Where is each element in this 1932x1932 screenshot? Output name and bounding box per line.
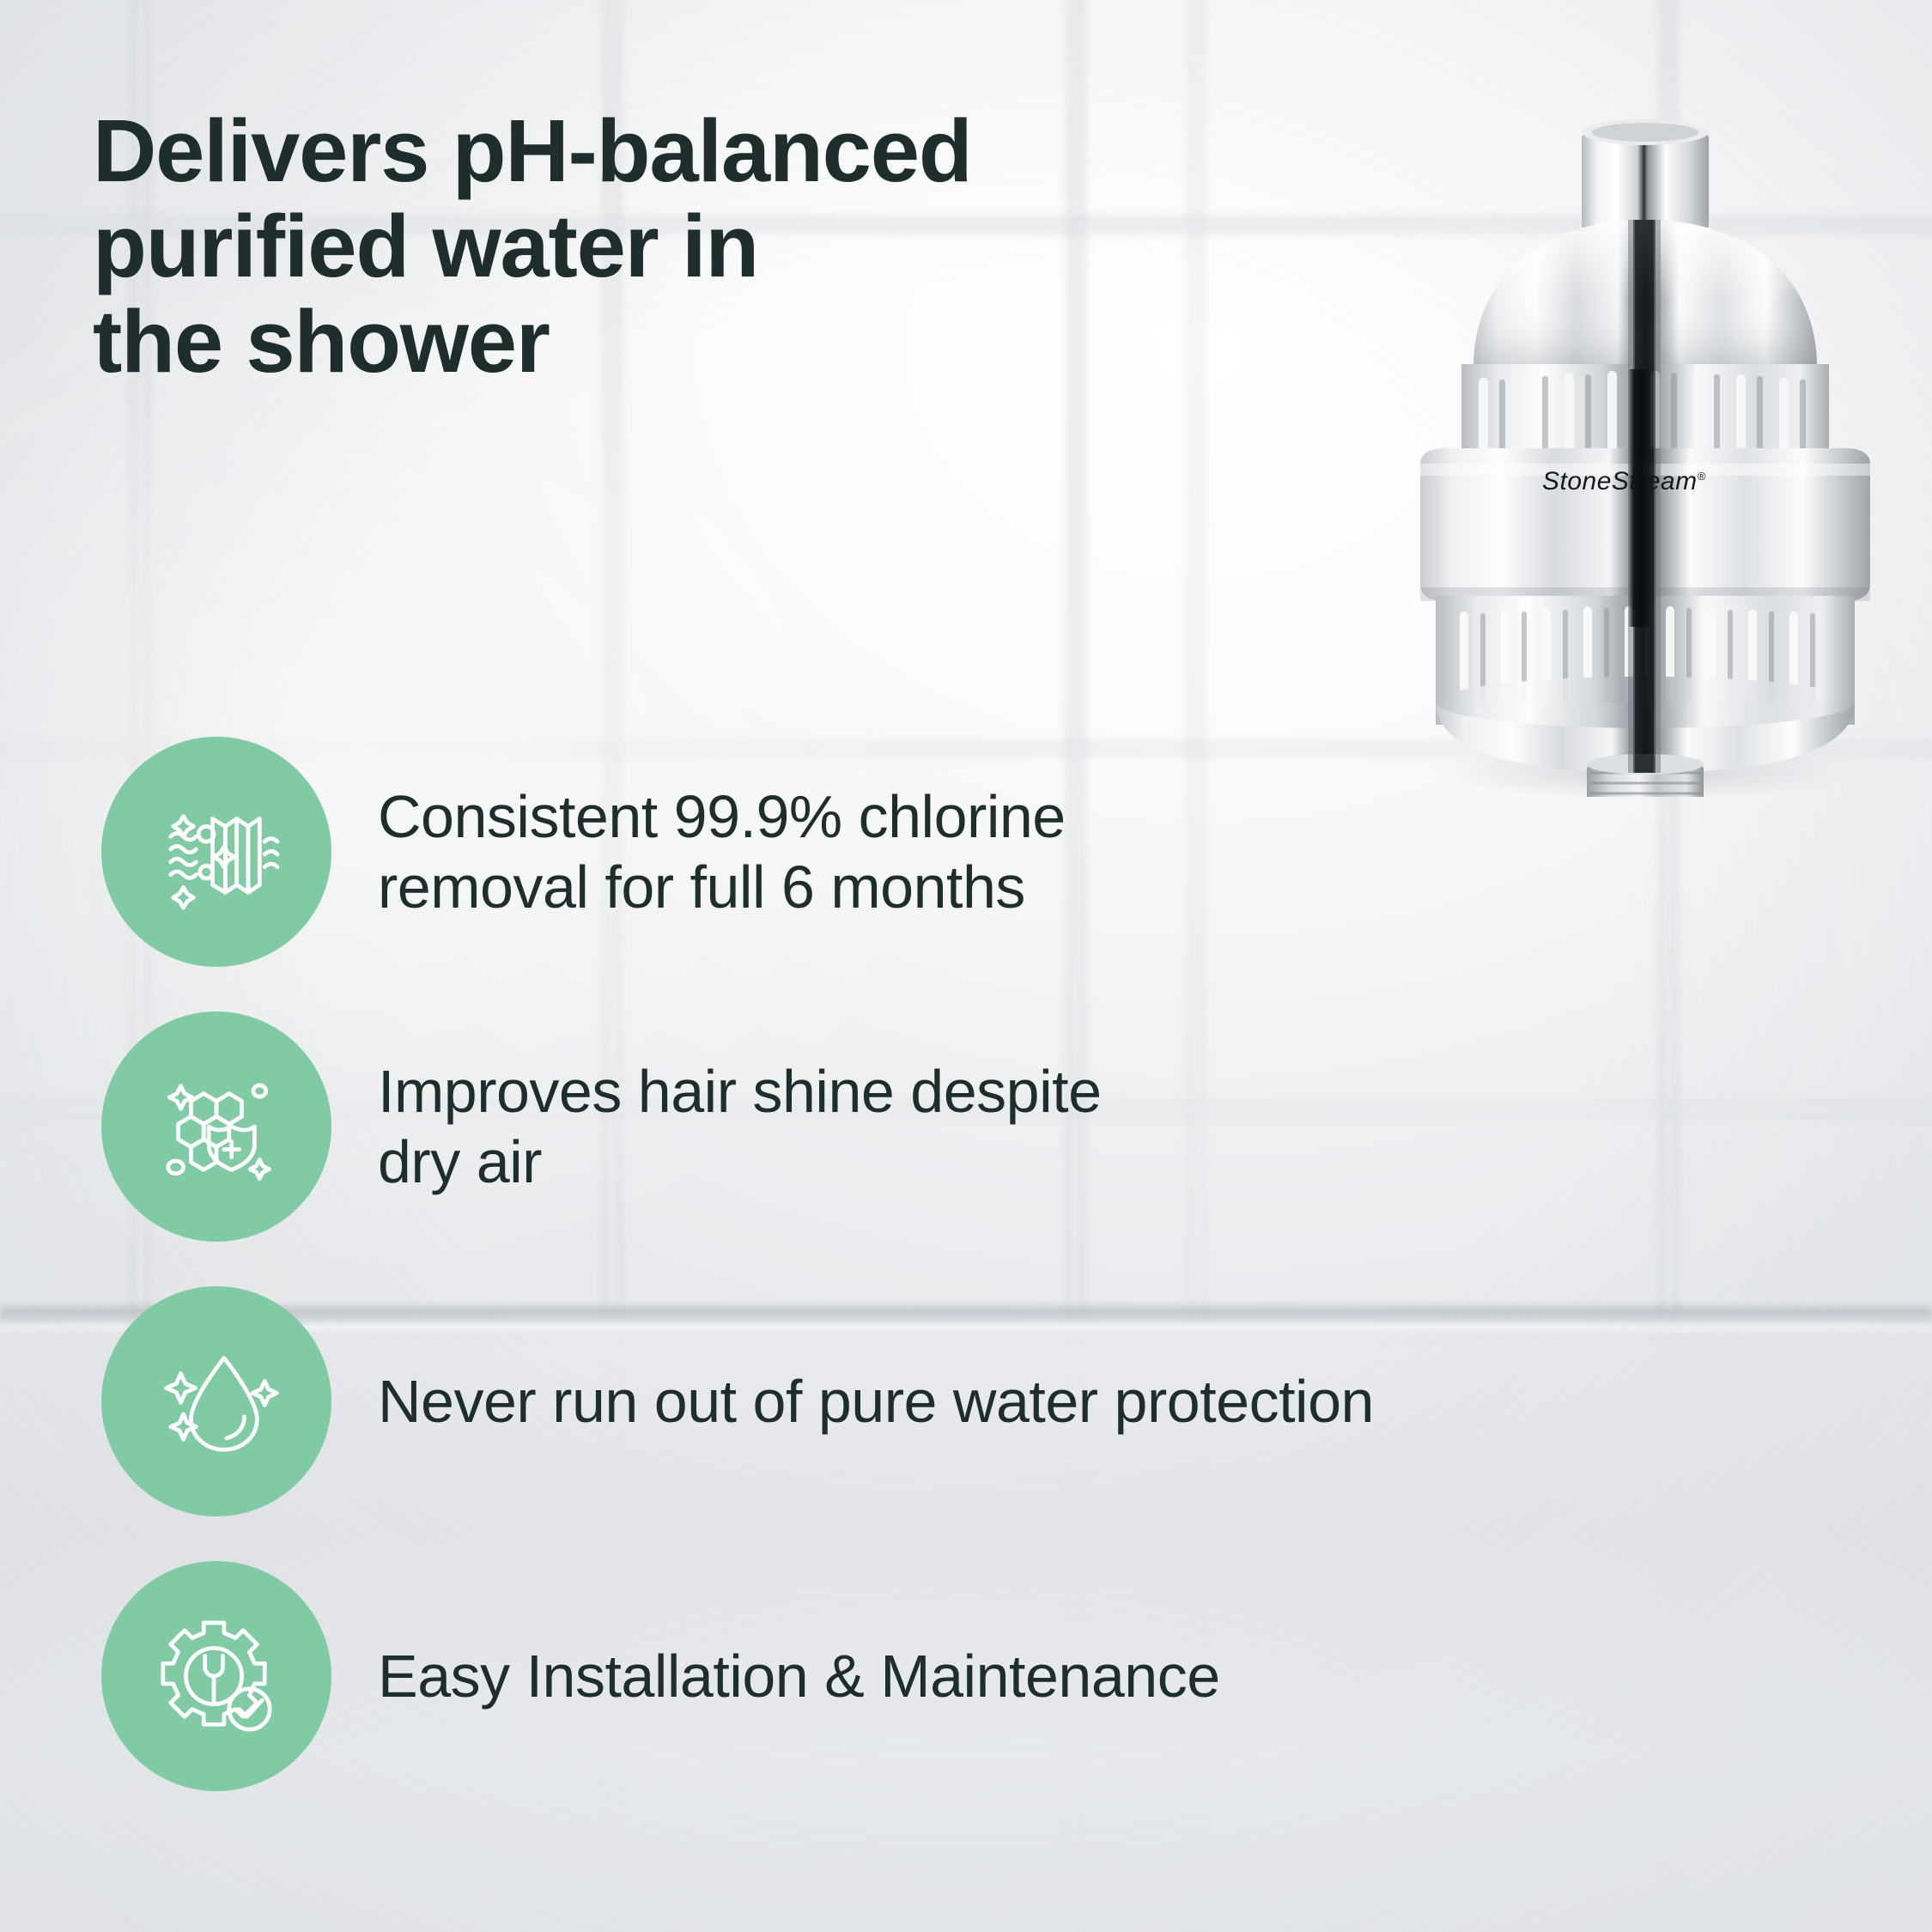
feature-row: Easy Installation & Maintenance [101,1561,1827,1791]
feature-icon-badge [101,1012,331,1242]
feature-row: Consistent 99.9% chlorine removal for fu… [101,737,1827,967]
feature-row: Never run out of pure water protection [101,1286,1827,1516]
product-reflection-band [1628,369,1652,627]
product-brand-label: StoneStream® [1542,467,1706,496]
feature-icon-badge [101,1561,331,1791]
feature-label: Easy Installation & Maintenance [378,1640,1220,1712]
feature-icon-badge [101,1286,331,1516]
feature-label: Never run out of pure water protection [378,1365,1374,1437]
filter-layers-icon [153,788,280,915]
gear-wrench-check-icon [153,1613,280,1740]
molecule-shield-icon [153,1063,280,1190]
feature-label: Consistent 99.9% chlorine removal for fu… [378,781,1066,923]
feature-icon-badge [101,737,331,967]
product-feature-banner: Delivers pH-balanced purified water in t… [0,0,1932,1932]
feature-row: Improves hair shine despite dry air [101,1012,1827,1242]
water-droplet-sparkle-icon [153,1338,280,1465]
feature-label: Improves hair shine despite dry air [378,1055,1102,1198]
page-title: Delivers pH-balanced purified water in t… [93,103,1106,390]
